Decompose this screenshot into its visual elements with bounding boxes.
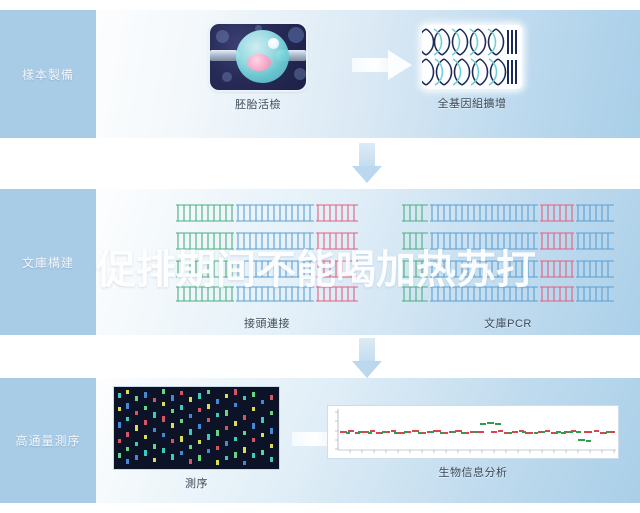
stage-library-construction: 文庫構建 [0,189,640,335]
arrow-right-sample-prep [352,50,412,80]
stage-label-high-throughput-sequencing: 高通量測序 [0,378,96,503]
figure-bioinformatics-analysis: 生物信息分析 [328,406,618,480]
caption-sequencing: 測序 [114,475,279,491]
figure-sequencing: 測序 [114,387,279,491]
figure-adapter-ligation: 接頭連接 [172,199,362,331]
library-pcr-image [398,199,618,309]
adapter-ligation-image [172,199,362,309]
figure-library-pcr: 文庫PCR [398,199,618,331]
dna-ladder-icon [172,199,362,304]
sequencing-readout-icon [114,387,279,469]
stage-sample-preparation: 樣本製備 胚胎活檢 [0,10,640,138]
stage-high-throughput-sequencing: 高通量測序 [0,378,640,503]
sequencing-image [114,387,279,469]
figure-whole-genome-amplification: 全基因組擴增 [422,25,522,111]
dna-ladder-pcr-icon [398,199,618,304]
caption-whole-genome-amplification: 全基因組擴增 [422,95,522,111]
embryo-biopsy-image [210,24,306,90]
stage-label-library-construction: 文庫構建 [0,189,96,335]
connector-down-arrow-2 [352,338,382,378]
copy-number-plot [328,406,618,458]
stage-body-high-throughput-sequencing: 測序 [96,378,640,503]
dna-helix-icon [422,25,522,89]
wga-image [422,25,522,89]
stage-body-library-construction: 接頭連接 [96,189,640,335]
stage-label-sample-preparation: 樣本製備 [0,10,96,138]
caption-bioinformatics-analysis: 生物信息分析 [328,464,618,480]
bioinformatics-chart [328,406,618,458]
figure-embryo-biopsy: 胚胎活檢 [210,24,306,112]
stage-body-sample-preparation: 胚胎活檢 [96,10,640,138]
caption-embryo-biopsy: 胚胎活檢 [210,96,306,112]
workflow-diagram: 樣本製備 胚胎活檢 [0,0,640,513]
caption-adapter-ligation: 接頭連接 [172,315,362,331]
caption-library-pcr: 文庫PCR [398,315,618,331]
connector-down-arrow-1 [352,143,382,183]
